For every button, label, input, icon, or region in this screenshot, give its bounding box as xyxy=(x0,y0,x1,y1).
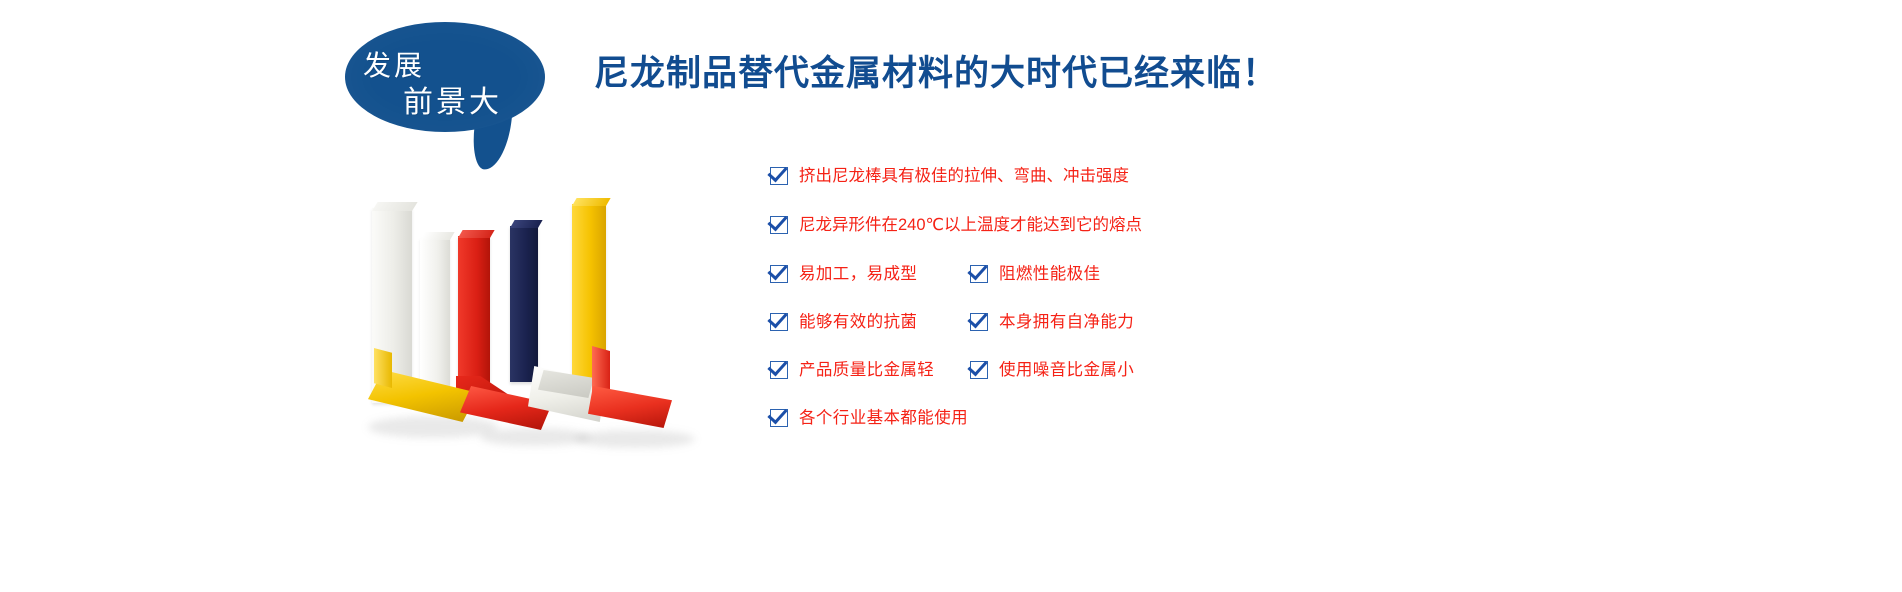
red-flat-bar-top xyxy=(458,230,495,238)
feature-label: 尼龙异形件在240℃以上温度才能达到它的熔点 xyxy=(799,215,1142,235)
feature-label: 使用噪音比金属小 xyxy=(999,360,1134,380)
bubble-line-2: 前景大 xyxy=(403,77,502,121)
navy-flat-bar-top xyxy=(510,220,543,228)
feature-item: 产品质量比金属轻 xyxy=(770,360,934,380)
feature-item: 本身拥有自净能力 xyxy=(970,312,1134,332)
feature-item: 能够有效的抗菌 xyxy=(770,312,917,332)
feature-label: 挤出尼龙棒具有极佳的拉伸、弯曲、冲击强度 xyxy=(799,166,1129,186)
product-photo xyxy=(360,190,700,460)
red-angle-piece-base xyxy=(588,386,672,428)
feature-row: 各个行业基本都能使用 xyxy=(770,405,968,431)
yellow-flat-bar-top xyxy=(572,198,611,206)
feature-label: 本身拥有自净能力 xyxy=(999,312,1134,332)
check-icon xyxy=(770,265,788,283)
feature-row: 易加工，易成型 阻燃性能极佳 xyxy=(770,261,1410,287)
promo-banner: 发展 前景大 尼龙制品替代金属材料的大时代已经来临！ xyxy=(0,0,1902,592)
feature-label: 易加工，易成型 xyxy=(799,264,917,284)
feature-label: 阻燃性能极佳 xyxy=(999,264,1100,284)
feature-item: 使用噪音比金属小 xyxy=(970,360,1134,380)
feature-label: 产品质量比金属轻 xyxy=(799,360,934,380)
speech-bubble-text: 发展 前景大 xyxy=(345,22,545,132)
feature-row: 产品质量比金属轻 使用噪音比金属小 xyxy=(770,357,1410,383)
photo-shadow xyxy=(480,428,590,446)
red-flat-bar xyxy=(458,236,490,398)
feature-list: 挤出尼龙棒具有极佳的拉伸、弯曲、冲击强度 尼龙异形件在240℃以上温度才能达到它… xyxy=(770,155,1410,445)
feature-item: 阻燃性能极佳 xyxy=(970,264,1100,284)
check-icon xyxy=(970,313,988,331)
check-icon xyxy=(770,167,788,185)
feature-row: 挤出尼龙棒具有极佳的拉伸、弯曲、冲击强度 xyxy=(770,163,1129,189)
photo-shadow xyxy=(368,416,498,438)
speech-bubble: 发展 前景大 xyxy=(345,22,550,162)
check-icon xyxy=(770,361,788,379)
page-title: 尼龙制品替代金属材料的大时代已经来临！ xyxy=(594,52,1278,96)
feature-item: 各个行业基本都能使用 xyxy=(770,408,968,428)
feature-item: 尼龙异形件在240℃以上温度才能达到它的熔点 xyxy=(770,215,1142,235)
check-icon xyxy=(970,361,988,379)
white-flat-bar-top xyxy=(372,202,418,211)
navy-flat-bar xyxy=(510,226,538,382)
feature-row: 能够有效的抗菌 本身拥有自净能力 xyxy=(770,309,1410,335)
feature-label: 能够有效的抗菌 xyxy=(799,312,917,332)
check-icon xyxy=(770,313,788,331)
feature-item: 挤出尼龙棒具有极佳的拉伸、弯曲、冲击强度 xyxy=(770,166,1129,186)
feature-label: 各个行业基本都能使用 xyxy=(799,408,968,428)
white-tall-bar-top xyxy=(420,232,455,240)
white-tall-bar xyxy=(420,238,450,388)
check-icon xyxy=(770,216,788,234)
yellow-u-channel-wall xyxy=(374,348,392,388)
feature-item: 易加工，易成型 xyxy=(770,264,917,284)
feature-row: 尼龙异形件在240℃以上温度才能达到它的熔点 xyxy=(770,212,1142,238)
check-icon xyxy=(770,409,788,427)
check-icon xyxy=(970,265,988,283)
photo-shadow xyxy=(575,430,695,448)
